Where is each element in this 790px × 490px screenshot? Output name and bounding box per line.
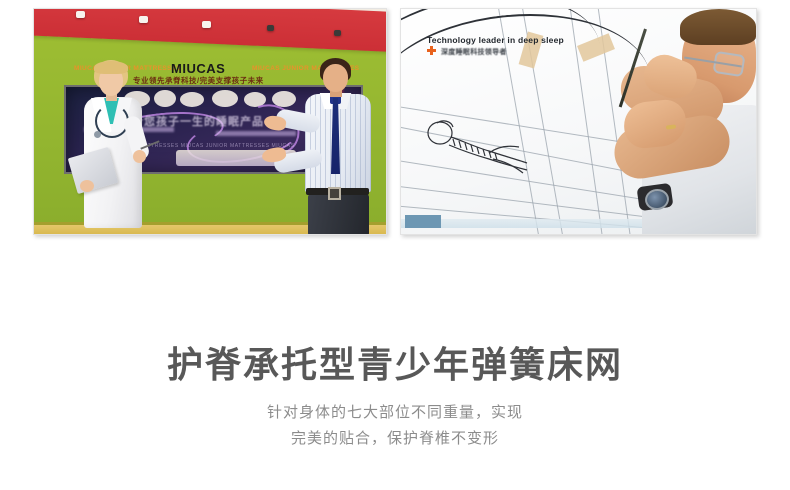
track-light-icon (334, 30, 341, 36)
product-image-gallery: MIUCAS JUNIOR MATTRESSES MIUCAS MIUCAS J… (0, 0, 790, 250)
banner-brand-text: MIUCAS (171, 61, 225, 76)
track-light-icon (76, 11, 85, 18)
showroom-photo-content: MIUCAS JUNIOR MATTRESSES MIUCAS MIUCAS J… (34, 9, 386, 234)
photo-headline-text: Technology leader in deep sleep (427, 35, 564, 45)
corner-color-swatch (405, 215, 441, 228)
subtitle-line-1: 针对身体的七大部位不同重量，实现 (0, 386, 790, 424)
subtitle-line-2: 完美的贴合，保护脊椎不变形 (0, 424, 790, 450)
male-presenter-figure (280, 56, 380, 234)
track-light-icon (139, 16, 148, 23)
track-light-icon (202, 21, 211, 28)
photo-subline-text: 深度睡眠科技领导者 (441, 47, 507, 57)
female-doctor-figure (70, 60, 156, 228)
designer-sketching-photo[interactable]: Technology leader in deep sleep 深度睡眠科技领导… (400, 8, 757, 235)
showroom-presentation-photo[interactable]: MIUCAS JUNIOR MATTRESSES MIUCAS MIUCAS J… (33, 8, 387, 235)
spine-sketch-icon (423, 117, 535, 175)
designer-photo-content: Technology leader in deep sleep 深度睡眠科技领导… (401, 9, 756, 234)
caption-block: 护脊承托型青少年弹簧床网 针对身体的七大部位不同重量，实现 完美的贴合，保护脊椎… (0, 250, 790, 450)
page-title: 护脊承托型青少年弹簧床网 (0, 250, 790, 386)
plus-icon (427, 46, 436, 55)
track-light-icon (267, 25, 274, 31)
designer-figure (614, 9, 756, 234)
